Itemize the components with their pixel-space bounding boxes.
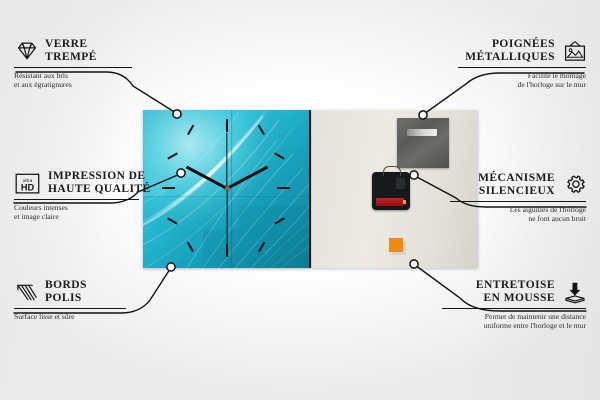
feature-title: POIGNÉESMÉTALLIQUES [465, 38, 555, 64]
feature-title: BORDSPOLIS [45, 279, 87, 305]
diamond-icon [14, 40, 38, 62]
feature-description: Résistant aux briset aux égratignures [14, 71, 132, 90]
connector-dot [410, 171, 418, 179]
title-rule [442, 308, 586, 309]
connector-dot [419, 111, 427, 119]
title-rule [450, 201, 586, 202]
ultra-hd-icon: ultra HD [14, 172, 41, 194]
infographic-canvas: VERRETREMPÉ Résistant aux briset aux égr… [0, 0, 600, 400]
feature-description: Les aiguilles de l'horlogene font aucun … [450, 205, 586, 224]
feature-description: Couleurs intenseset image claire [14, 203, 139, 222]
feature-description: Surface lisse et sûre [14, 312, 126, 322]
foam-spacer-arrow-icon [562, 281, 586, 303]
feature-title: IMPRESSION DEHAUTE QUALITÉ [48, 170, 151, 196]
feature-title-line: IMPRESSION DE [48, 170, 146, 182]
feature-mecanisme-silencieux: MÉCANISMESILENCIEUX Les aiguilles de l'h… [450, 172, 586, 224]
feature-entretoise-en-mousse: ENTRETOISEEN MOUSSE Permet de maintenir … [442, 279, 586, 331]
feature-description: Permet de maintenir une distanceuniforme… [442, 312, 586, 331]
connector-dot [410, 260, 418, 268]
title-rule [458, 67, 586, 68]
feature-poignees-metalliques: POIGNÉESMÉTALLIQUES Facilite le montaged… [458, 38, 586, 90]
title-rule [14, 199, 139, 200]
feature-title: ENTRETOISEEN MOUSSE [476, 279, 555, 305]
title-rule [14, 308, 126, 309]
feature-title-line: HAUTE QUALITÉ [48, 183, 151, 195]
feature-description: Facilite le montagede l'horloge sur le m… [458, 71, 586, 90]
feature-impression-haute-qualite: ultra HD IMPRESSION DEHAUTE QUALITÉ Coul… [14, 170, 139, 222]
feature-bords-polis: BORDSPOLIS Surface lisse et sûre [14, 279, 126, 321]
connector-dot [173, 110, 181, 118]
svg-text:HD: HD [21, 183, 35, 193]
feature-title: MÉCANISMESILENCIEUX [478, 172, 555, 198]
title-rule [14, 67, 132, 68]
feature-title: VERRETREMPÉ [45, 38, 97, 64]
connector-dot [177, 169, 185, 177]
feature-verre-trempe: VERRETREMPÉ Résistant aux briset aux égr… [14, 38, 132, 90]
polished-edges-icon [14, 281, 38, 303]
gear-icon [562, 174, 586, 196]
wall-mount-frame-icon [562, 40, 586, 62]
connector-dot [167, 263, 175, 271]
